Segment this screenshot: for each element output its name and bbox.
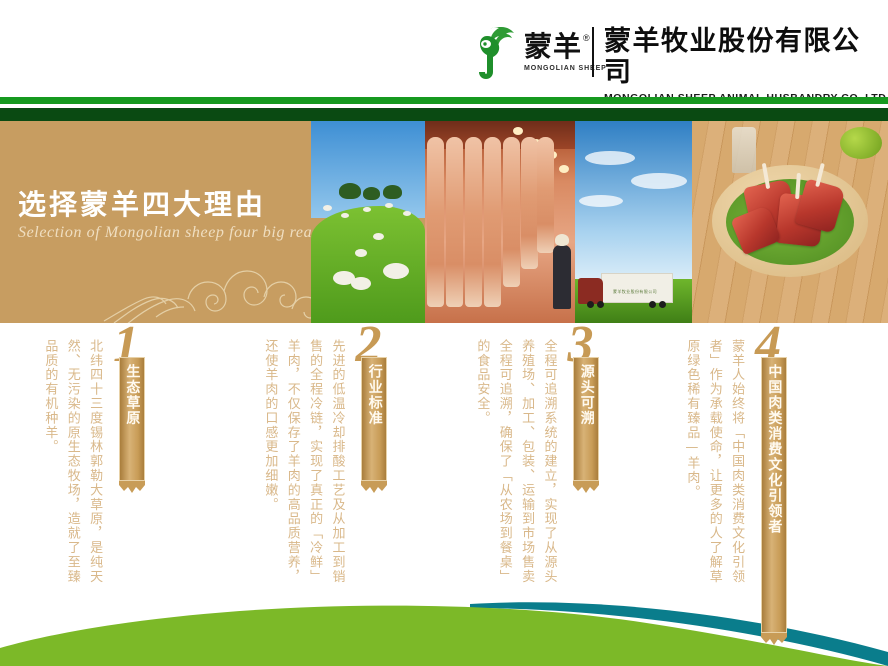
reason-label-2: 行业标准 [367, 364, 382, 426]
banner-title: 选择蒙羊四大理由 [18, 183, 266, 223]
photo-hanging-carcasses [425, 121, 575, 323]
dark-green-rule [0, 108, 888, 121]
registered-trademark-icon: ® [583, 33, 590, 43]
reason-label-1: 生态草原 [125, 364, 140, 426]
reason-label-ribbon-1: 生态草原 [119, 357, 145, 481]
logo-chinese-name: 蒙羊 [524, 32, 582, 61]
cloud-swirl-ornament-icon [96, 251, 326, 323]
reason-item-2[interactable]: 2 行业标准 先进的低温冷却排酸工艺及从加工到销售的全程冷链，实现了真正的「冷鲜… [258, 323, 387, 593]
reasons-section: 1 生态草原 北纬四十三度锡林郭勒大草原，是纯天然、无污染的原生态牧场，造就了至… [0, 323, 888, 593]
header-divider [592, 27, 594, 77]
reason-item-4[interactable]: 4 中国肉类消费文化引领者 蒙羊人始终将「中国肉类消费文化引领者」作为承载使命，… [680, 323, 787, 593]
bottom-wave-decoration [0, 556, 888, 666]
reason-text-4: 蒙羊人始终将「中国肉类消费文化引领者」作为承载使命，让更多的人了解草原绿色稀有臻… [680, 339, 747, 589]
ribbon-tail-icon-4 [761, 633, 787, 649]
banner-photo-strip: 蒙羊牧业股份有限公司 [311, 121, 888, 323]
ribbon-tail-icon-3 [573, 481, 599, 497]
logo-wordmark: 蒙羊 ® MONGOLIAN SHEEP [524, 32, 607, 71]
brand-logo[interactable]: 蒙羊 ® MONGOLIAN SHEEP [472, 24, 607, 80]
ribbon-tail-icon-1 [119, 481, 145, 497]
reason-label-4: 中国肉类消费文化引领者 [767, 364, 782, 535]
photo-sheep-pasture [311, 121, 425, 323]
logo-english-name: MONGOLIAN SHEEP [524, 65, 607, 72]
reason-item-1[interactable]: 1 生态草原 北纬四十三度锡林郭勒大草原，是纯天然、无污染的原生态牧场，造就了至… [38, 323, 145, 593]
ribbon-tail-icon-2 [361, 481, 387, 497]
ram-head-logo-icon [472, 24, 518, 80]
reason-item-3[interactable]: 3 源头可溯 全程可追溯系统的建立，实现了从源头养殖场、加工、包装、运输到市场售… [470, 323, 599, 593]
company-name-block: 蒙羊牧业股份有限公司 MONGOLIAN SHEEP ANIMAL HUSBAN… [604, 26, 888, 104]
photo-lamb-chops [692, 121, 888, 323]
reason-text-3: 全程可追溯系统的建立，实现了从源头养殖场、加工、包装、运输到市场售卖全程可追溯，… [470, 339, 559, 589]
reason-label-ribbon-2: 行业标准 [361, 357, 387, 481]
hero-banner: 选择蒙羊四大理由 Selection of Mongolian sheep fo… [0, 121, 888, 323]
reason-text-2: 先进的低温冷却排酸工艺及从加工到销售的全程冷链，实现了真正的「冷鲜」羊肉，不仅保… [258, 339, 347, 589]
truck-livery-text: 蒙羊牧业股份有限公司 [613, 289, 657, 295]
banner-subtitle: Selection of Mongolian sheep four big re… [18, 224, 343, 242]
reason-label-ribbon-4: 中国肉类消费文化引领者 [761, 357, 787, 633]
company-chinese-name: 蒙羊牧业股份有限公司 [604, 26, 888, 88]
reason-label-3: 源头可溯 [579, 364, 594, 426]
photo-refrigerated-truck: 蒙羊牧业股份有限公司 [575, 121, 692, 323]
page-header: 蒙羊 ® MONGOLIAN SHEEP 蒙羊牧业股份有限公司 MONGOLIA… [0, 0, 888, 97]
reason-label-ribbon-3: 源头可溯 [573, 357, 599, 481]
reason-text-1: 北纬四十三度锡林郭勒大草原，是纯天然、无污染的原生态牧场，造就了至臻品质的有机种… [38, 339, 105, 589]
bright-green-rule [0, 97, 888, 104]
